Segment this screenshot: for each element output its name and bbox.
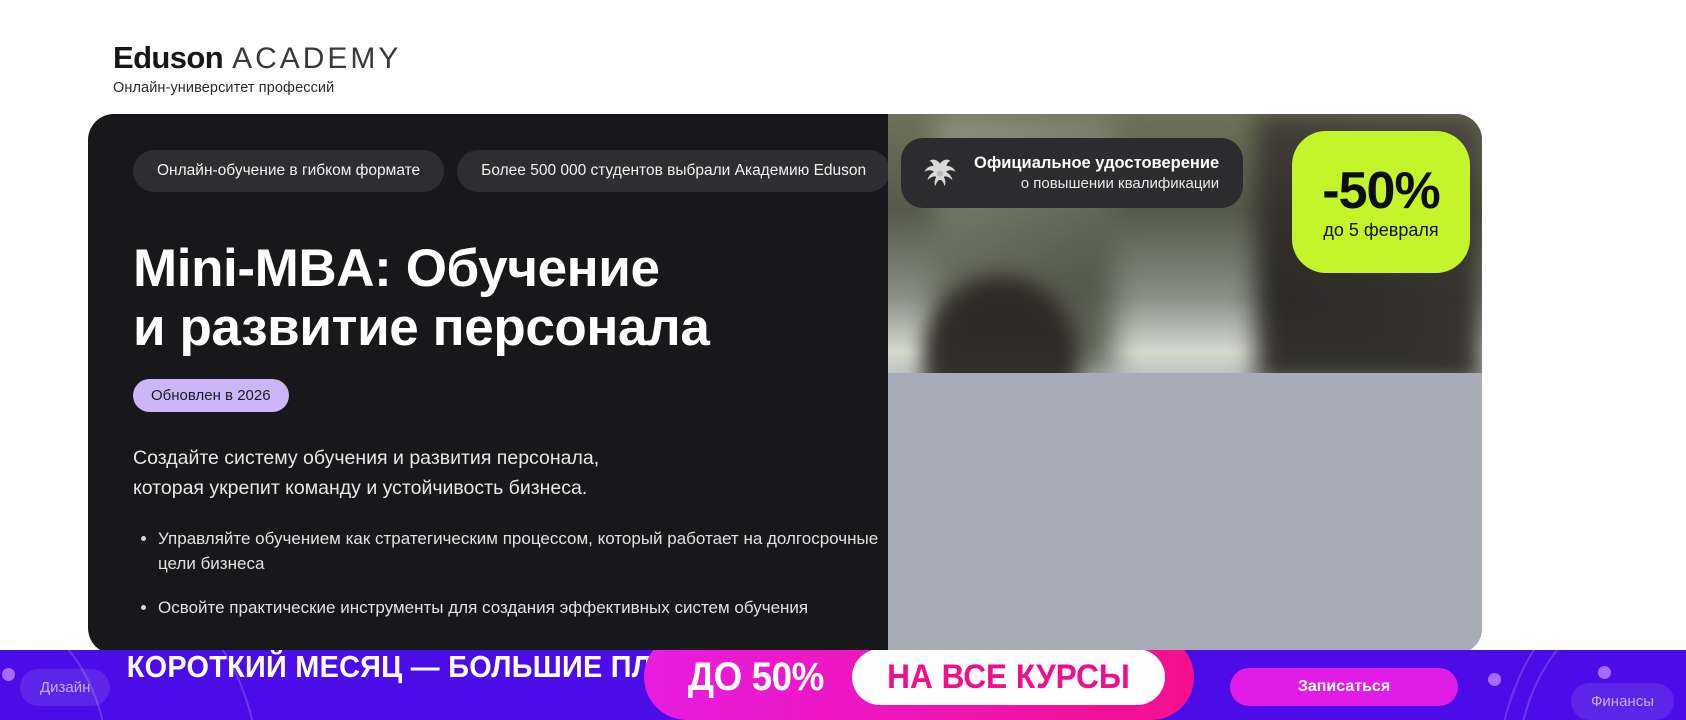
- logo-secondary-text: ACADEMY: [232, 44, 401, 74]
- hero-chip-row: Онлайн-обучение в гибком формате Более 5…: [133, 150, 888, 192]
- promo-offer-scope-text: НА ВСЕ КУРСЫ: [887, 660, 1130, 694]
- double-headed-eagle-emblem-icon: [921, 154, 959, 192]
- certificate-badge: Официальное удостоверение о повышении кв…: [901, 138, 1243, 208]
- lede-line-2: которая укрепит команду и устойчивость б…: [133, 477, 587, 499]
- page-root: Eduson ACADEMY Онлайн-университет профес…: [0, 0, 1686, 720]
- decorative-dot: [1598, 666, 1611, 679]
- headline-line-2: и развитие персонала: [133, 298, 709, 357]
- logo-tagline: Онлайн-университет профессий: [113, 80, 401, 96]
- promo-offer-scope: НА ВСЕ КУРСЫ: [852, 650, 1165, 705]
- certificate-subtitle: о повышении квалификации: [974, 176, 1219, 191]
- hero-media: Официальное удостоверение о повышении кв…: [888, 114, 1482, 654]
- certificate-title: Официальное удостоверение: [974, 155, 1219, 172]
- promo-offer-pill: ДО 50% НА ВСЕ КУРСЫ: [644, 650, 1194, 720]
- hero-content: Онлайн-обучение в гибком формате Более 5…: [88, 114, 888, 654]
- promo-tag-finance[interactable]: Финансы: [1571, 683, 1674, 720]
- hero-chip-format[interactable]: Онлайн-обучение в гибком формате: [133, 150, 444, 192]
- list-item: Управляйте обучением как стратегическим …: [133, 526, 888, 578]
- promo-offer-amount: ДО 50%: [688, 657, 824, 697]
- enroll-button[interactable]: Записаться: [1230, 668, 1458, 706]
- hero-benefits-list: Управляйте обучением как стратегическим …: [133, 526, 888, 621]
- photo-foreground: [888, 373, 1482, 654]
- discount-value: -50%: [1322, 165, 1439, 217]
- hero-chip-students[interactable]: Более 500 000 студентов выбрали Академию…: [457, 150, 890, 192]
- status-badge-updated: Обновлен в 2026: [133, 379, 289, 412]
- list-item: Освойте практические инструменты для соз…: [133, 595, 888, 621]
- lede-line-1: Создайте систему обучения и развития пер…: [133, 447, 599, 469]
- hero-card: Онлайн-обучение в гибком формате Более 5…: [88, 114, 1482, 654]
- headline-line-1: Mini-MBA: Обучение: [133, 239, 660, 298]
- page-title: Mini-MBA: Обучение и развитие персонала: [133, 239, 888, 358]
- certificate-texts: Официальное удостоверение о повышении кв…: [974, 155, 1219, 192]
- promo-tag-design[interactable]: Дизайн: [20, 669, 110, 706]
- discount-badge: -50% до 5 февраля: [1292, 131, 1470, 273]
- site-logo[interactable]: Eduson ACADEMY Онлайн-университет профес…: [113, 42, 401, 96]
- hero-description: Создайте систему обучения и развития пер…: [133, 443, 888, 503]
- logo-primary-text: Eduson: [113, 42, 223, 73]
- promo-banner: Дизайн Финансы КОРОТКИЙ МЕСЯЦ — БОЛЬШИЕ …: [0, 650, 1686, 720]
- promo-title-text: КОРОТКИЙ МЕСЯЦ — БОЛЬШИЕ ПЛАНЫ!: [127, 650, 733, 685]
- discount-deadline: до 5 февраля: [1323, 221, 1438, 239]
- logo-wordmark: Eduson ACADEMY: [113, 42, 401, 74]
- decorative-dot: [2, 668, 15, 681]
- decorative-dot: [1488, 673, 1501, 686]
